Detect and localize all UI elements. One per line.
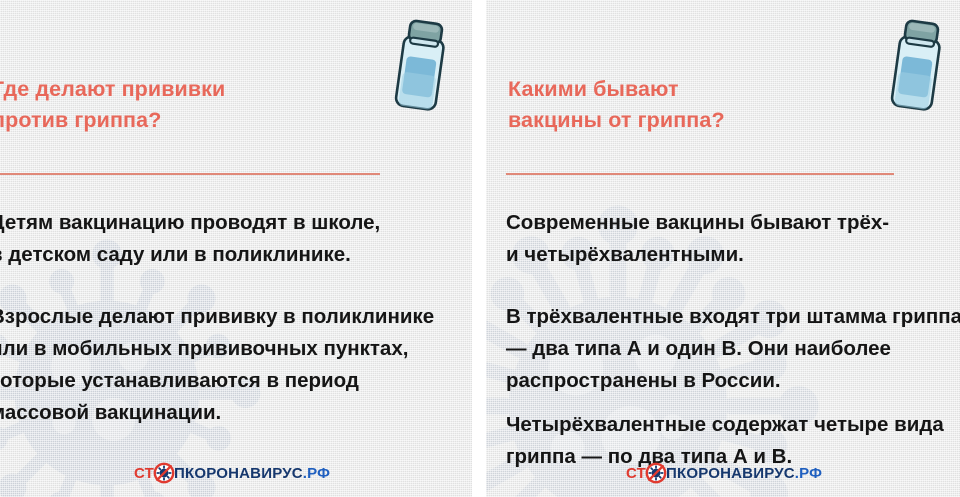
slide-pair: Где делают прививки против гриппа? Детям… xyxy=(0,0,960,497)
logo-middle: ПКОРОНАВИРУС xyxy=(174,465,303,482)
body-line: В трёхвалентные входят три штамма гриппа xyxy=(506,301,960,333)
title-line: вакцины от гриппа? xyxy=(508,105,725,136)
stop-virus-icon xyxy=(645,462,667,484)
stop-virus-icon xyxy=(153,462,175,484)
title-divider xyxy=(0,173,380,175)
body-line: Четырёхвалентные содержат четыре вида xyxy=(506,409,960,441)
logo-middle: ПКОРОНАВИРУС xyxy=(666,465,795,482)
card-content: Какими бывают вакцины от гриппа? Совреме… xyxy=(486,0,960,497)
stopcoronavirus-logo[interactable]: СТ xyxy=(134,462,330,484)
card-gap xyxy=(472,0,486,497)
logo-prefix: СТ xyxy=(134,465,154,482)
title-line: Где делают прививки xyxy=(0,74,225,105)
card-body: Детям вакцинацию проводят в школе, в дет… xyxy=(0,207,434,429)
body-line: Взрослые делают прививку в поликлинике xyxy=(0,301,434,333)
stopcoronavirus-logo[interactable]: СТ xyxy=(626,462,822,484)
body-line: массовой вакцинации. xyxy=(0,397,434,429)
paragraph-spacer xyxy=(0,271,434,301)
card-flu-vaccine-types: Какими бывают вакцины от гриппа? Совреме… xyxy=(486,0,960,497)
body-line: которые устанавливаются в период xyxy=(0,365,434,397)
paragraph-spacer xyxy=(506,397,960,409)
title-line: против гриппа? xyxy=(0,105,225,136)
title-line: Какими бывают xyxy=(508,74,725,105)
body-line: в детском саду или в поликлинике. xyxy=(0,239,434,271)
logo-suffix: .РФ xyxy=(303,465,330,482)
body-line: — два типа А и один В. Они наиболее xyxy=(506,333,960,365)
body-line: распространены в России. xyxy=(506,365,960,397)
card-body: Современные вакцины бывают трёх- и четыр… xyxy=(506,207,960,473)
card-title: Какими бывают вакцины от гриппа? xyxy=(508,74,725,136)
logo-prefix: СТ xyxy=(626,465,646,482)
card-content: Где делают прививки против гриппа? Детям… xyxy=(0,0,472,497)
body-line: Современные вакцины бывают трёх- xyxy=(506,207,960,239)
logo-suffix: .РФ xyxy=(795,465,822,482)
body-line: и четырёхвалентными. xyxy=(506,239,960,271)
body-line: Детям вакцинацию проводят в школе, xyxy=(0,207,434,239)
title-divider xyxy=(506,173,894,175)
card-flu-vaccination-places: Где делают прививки против гриппа? Детям… xyxy=(0,0,472,497)
body-line: или в мобильных прививочных пунктах, xyxy=(0,333,434,365)
paragraph-spacer xyxy=(506,271,960,301)
card-title: Где делают прививки против гриппа? xyxy=(0,74,225,136)
